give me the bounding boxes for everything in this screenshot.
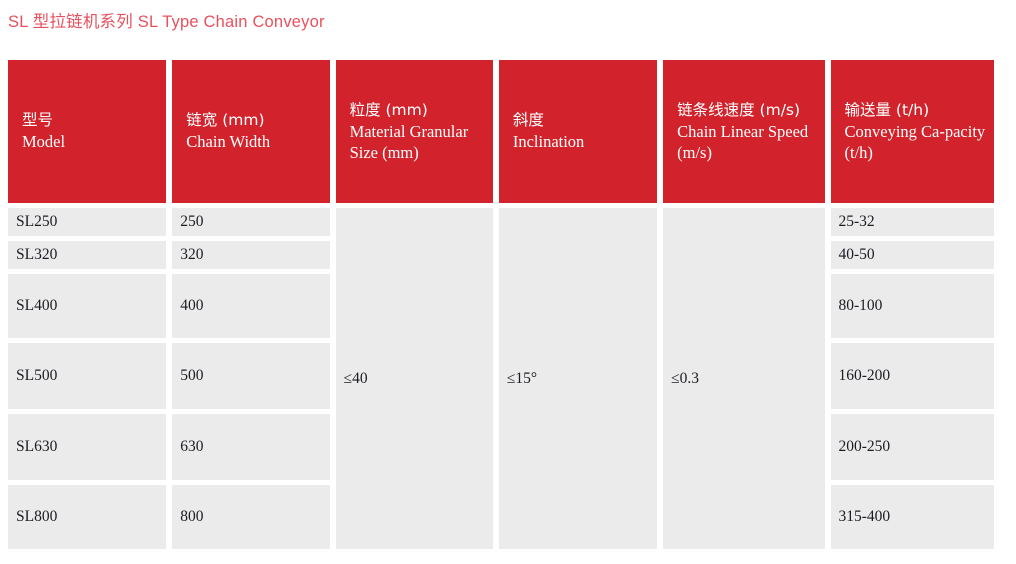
spec-table-container: 型号 Model 链宽 (mm) Chain Width 粒度 (mm) Mat… (8, 60, 1006, 549)
spec-table: 型号 Model 链宽 (mm) Chain Width 粒度 (mm) Mat… (2, 55, 1000, 554)
cell-conveying-capacity: 200-250 (831, 414, 995, 480)
table-row: SL250 250 ≤40 ≤15° ≤0.3 25-32 (8, 208, 994, 236)
cell-chain-linear-speed-merged: ≤0.3 (663, 208, 824, 549)
cell-chain-width: 630 (172, 414, 329, 480)
cell-chain-width: 320 (172, 241, 329, 269)
cell-chain-width: 250 (172, 208, 329, 236)
column-header-chain-width: 链宽 (mm) Chain Width (172, 60, 329, 203)
cell-model: SL630 (8, 414, 166, 480)
cell-model: SL400 (8, 274, 166, 338)
product-spec-page: SL 型拉链机系列 SL Type Chain Conveyor 型号 Mode… (0, 0, 1016, 564)
cell-chain-width: 400 (172, 274, 329, 338)
column-header-chain-linear-speed: 链条线速度 (m/s) Chain Linear Speed (m/s) (663, 60, 824, 203)
table-header: 型号 Model 链宽 (mm) Chain Width 粒度 (mm) Mat… (8, 60, 994, 203)
column-header-chain-width-cn: 链宽 (mm) (186, 110, 323, 131)
column-header-chain-linear-speed-cn: 链条线速度 (m/s) (677, 100, 818, 121)
cell-conveying-capacity: 40-50 (831, 241, 995, 269)
column-header-model: 型号 Model (8, 60, 166, 203)
cell-model: SL800 (8, 485, 166, 549)
column-header-granular-size-en: Material Granular Size (mm) (350, 121, 487, 164)
column-header-conveying-capacity: 输送量 (t/h) Conveying Ca-pacity (t/h) (831, 60, 995, 203)
column-header-conveying-capacity-en: Conveying Ca-pacity (t/h) (845, 121, 989, 164)
column-header-inclination-en: Inclination (513, 131, 651, 153)
cell-chain-width: 800 (172, 485, 329, 549)
column-header-model-cn: 型号 (22, 110, 160, 131)
cell-conveying-capacity: 80-100 (831, 274, 995, 338)
column-header-granular-size-cn: 粒度 (mm) (350, 100, 487, 121)
cell-granular-size-merged: ≤40 (336, 208, 493, 549)
cell-chain-width: 500 (172, 343, 329, 409)
column-header-chain-linear-speed-en: Chain Linear Speed (m/s) (677, 121, 818, 164)
cell-model: SL320 (8, 241, 166, 269)
column-header-model-en: Model (22, 131, 160, 153)
cell-conveying-capacity: 160-200 (831, 343, 995, 409)
column-header-granular-size: 粒度 (mm) Material Granular Size (mm) (336, 60, 493, 203)
cell-conveying-capacity: 315-400 (831, 485, 995, 549)
page-title: SL 型拉链机系列 SL Type Chain Conveyor (8, 11, 325, 33)
header-row: 型号 Model 链宽 (mm) Chain Width 粒度 (mm) Mat… (8, 60, 994, 203)
column-header-conveying-capacity-cn: 输送量 (t/h) (845, 100, 989, 121)
column-header-chain-width-en: Chain Width (186, 131, 323, 153)
cell-conveying-capacity: 25-32 (831, 208, 995, 236)
column-header-inclination-cn: 斜度 (513, 110, 651, 131)
cell-model: SL250 (8, 208, 166, 236)
column-header-inclination: 斜度 Inclination (499, 60, 657, 203)
table-body: SL250 250 ≤40 ≤15° ≤0.3 25-32 SL320 320 … (8, 208, 994, 549)
cell-model: SL500 (8, 343, 166, 409)
cell-inclination-merged: ≤15° (499, 208, 657, 549)
